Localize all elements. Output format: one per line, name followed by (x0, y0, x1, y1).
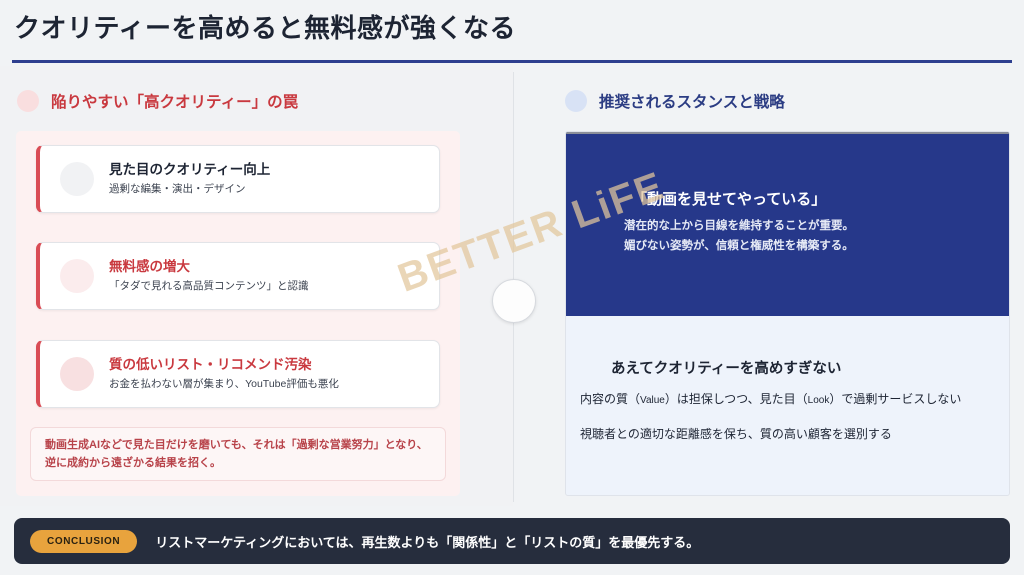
strategy-point-1-part-a: 内容の質（ (580, 392, 640, 406)
card-subtitle: 過剰な編集・演出・デザイン (109, 182, 270, 197)
card-title: 無料感の増大 (109, 258, 309, 276)
card-title: 質の低いリスト・リコメンド汚染 (109, 356, 339, 374)
left-column-header-label: 陥りやすい「高クオリティー」の罠 (51, 90, 298, 112)
bullet-dot-icon (17, 90, 39, 112)
card-dot-icon (60, 259, 94, 293)
card-body: 無料感の増大 「タダで見れる高品質コンテンツ」と認識 (109, 258, 309, 294)
trap-card: 無料感の増大 「タダで見れる高品質コンテンツ」と認識 (36, 242, 440, 310)
stance-description: 潜在的な上から目線を維持することが重要。 媚びない姿勢が、信頼と権威性を構築する… (624, 216, 854, 256)
strategy-point-1-look: Look (808, 395, 830, 406)
strategy-panel: 「動画を見せてやっている」 潜在的な上から目線を維持することが重要。 媚びない姿… (565, 131, 1010, 496)
card-dot-icon (60, 162, 94, 196)
strategy-point-1-part-c: ）で過剰サービスしない (829, 392, 961, 406)
strategy-point-1: 内容の質（Value）は担保しつつ、見た目（Look）で過剰サービスしない (580, 390, 992, 409)
title-area: クオリティーを高めると無料感が強くなる (0, 0, 1024, 62)
trap-card: 見た目のクオリティー向上 過剰な編集・演出・デザイン (36, 145, 440, 213)
card-dot-icon (60, 357, 94, 391)
page-title: クオリティーを高めると無料感が強くなる (14, 8, 516, 45)
trap-card: 質の低いリスト・リコメンド汚染 お金を払わない層が集まり、YouTube評価も悪… (36, 340, 440, 408)
warning-note: 動画生成AIなどで見た目だけを磨いても、それは「過剰な営業努力」となり、逆に成約… (30, 427, 446, 481)
title-underline (12, 60, 1012, 63)
card-body: 見た目のクオリティー向上 過剰な編集・演出・デザイン (109, 161, 270, 197)
bullet-dot-icon (565, 90, 587, 112)
strategy-points: 内容の質（Value）は担保しつつ、見た目（Look）で過剰サービスしない 視聴… (580, 390, 992, 443)
card-subtitle: 「タダで見れる高品質コンテンツ」と認識 (109, 279, 309, 294)
right-column-header-label: 推奨されるスタンスと戦略 (599, 90, 785, 112)
warning-note-text: 動画生成AIなどで見た目だけを磨いても、それは「過剰な営業努力」となり、逆に成約… (45, 437, 431, 473)
strategy-point-2: 視聴者との適切な距離感を保ち、質の高い顧客を選別する (580, 425, 992, 444)
stance-line-2: 媚びない姿勢が、信頼と権威性を構築する。 (624, 236, 854, 256)
right-column-header: 推奨されるスタンスと戦略 (565, 90, 785, 112)
divider-circle-icon (492, 279, 536, 323)
strategy-title: あえてクオリティーを高めすぎない (611, 357, 841, 378)
conclusion-text: リストマーケティングにおいては、再生数よりも「関係性」と「リストの質」を最優先す… (155, 532, 699, 551)
stance-line-1: 潜在的な上から目線を維持することが重要。 (624, 216, 854, 236)
card-body: 質の低いリスト・リコメンド汚染 お金を払わない層が集まり、YouTube評価も悪… (109, 356, 339, 392)
conclusion-bar: CONCLUSION リストマーケティングにおいては、再生数よりも「関係性」と「… (14, 518, 1010, 564)
slide-root: クオリティーを高めると無料感が強くなる 陥りやすい「高クオリティー」の罠 推奨さ… (0, 0, 1024, 575)
strategy-point-1-part-b: ）は担保しつつ、見た目（ (665, 392, 808, 406)
left-column-header: 陥りやすい「高クオリティー」の罠 (17, 90, 298, 112)
conclusion-badge: CONCLUSION (30, 530, 137, 553)
card-title: 見た目のクオリティー向上 (109, 161, 270, 179)
stance-title: 「動画を見せてやっている」 (632, 188, 826, 209)
strategy-point-1-value: Value (640, 395, 665, 406)
card-subtitle: お金を払わない層が集まり、YouTube評価も悪化 (109, 377, 339, 392)
